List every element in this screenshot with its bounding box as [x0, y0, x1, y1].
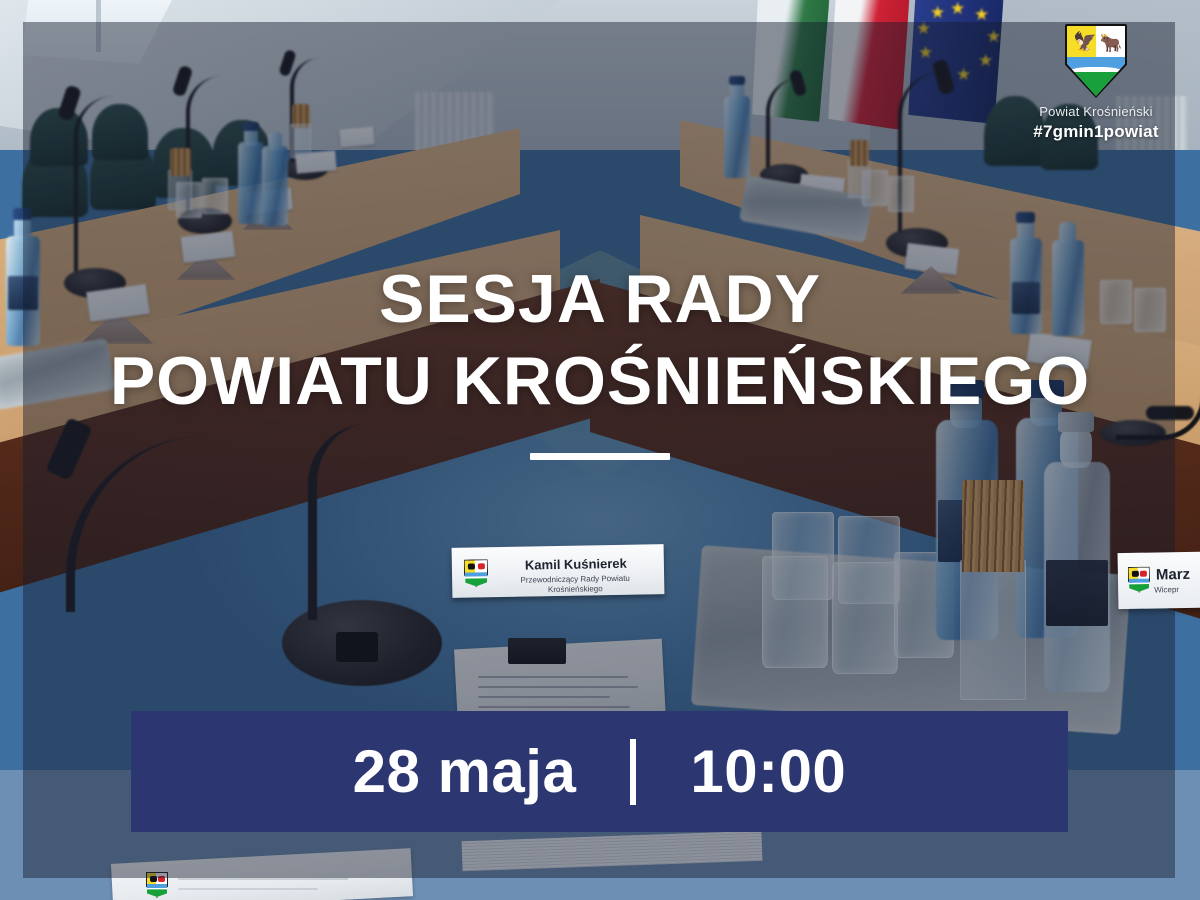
nameplate-person-name: Marz: [1156, 566, 1190, 584]
water-bottle: [238, 142, 264, 224]
drinking-glass: [832, 562, 898, 674]
document-text-line: [478, 686, 638, 688]
breadsticks-foreground: [962, 480, 1024, 572]
water-bottle: [724, 96, 750, 178]
eagle-icon: 🦅: [1073, 33, 1097, 52]
drinking-glass: [762, 556, 828, 668]
eu-star-icon: ★: [978, 52, 993, 69]
water-bottle-label: [8, 276, 38, 310]
bull-icon: 🐂: [1100, 34, 1122, 52]
water-bottle-cap: [13, 208, 32, 220]
document-stack: [462, 831, 763, 871]
logo-block: 🦅 🐂 Powiat Krośnieński #7gmin1powiat: [1030, 24, 1162, 142]
document-crest-icon: [146, 872, 168, 898]
breadstick-cup: [290, 124, 311, 158]
eu-star-icon: ★: [916, 20, 931, 37]
eu-star-icon: ★: [956, 66, 971, 83]
breadstick-cup: [168, 170, 192, 210]
water-bottle-cap: [1028, 380, 1064, 398]
event-date: 28 maja: [353, 741, 577, 803]
event-time: 10:00: [690, 741, 846, 803]
breadstick-cup-foreground: [960, 560, 1026, 700]
eu-star-icon: ★: [974, 6, 989, 23]
eu-star-icon: ★: [930, 4, 945, 21]
water-bottle-cap: [1016, 212, 1035, 223]
water-bottle-cap: [948, 380, 984, 398]
water-bottle-cap: [243, 122, 259, 131]
eu-star-icon: ★: [950, 0, 965, 17]
nameplate-person-role: Wicepr: [1154, 585, 1179, 594]
coat-of-arms-icon: 🦅 🐂: [1065, 24, 1127, 98]
breadsticks: [850, 140, 869, 166]
water-bottle-neck: [268, 132, 282, 150]
nameplate-crest-icon: [464, 559, 488, 587]
eu-star-icon: ★: [986, 28, 1001, 45]
water-bottle-neck: [1059, 222, 1076, 244]
water-bottle-label: [1046, 560, 1108, 626]
banner-separator: [630, 739, 636, 805]
nameplate-vice-marshal: Marz Wicepr: [1118, 551, 1200, 609]
water-bottle-neck: [1060, 428, 1092, 468]
eu-star-icon: ★: [918, 44, 933, 61]
water-bottle-neck: [1017, 220, 1034, 242]
poster-root: ★ ★ ★ ★ ★ ★ ★ ★ ★: [0, 0, 1200, 900]
window-mullion: [96, 0, 101, 52]
microphone-switch: [336, 632, 378, 662]
document-text-line: [178, 888, 318, 890]
water-bottle-label: [1012, 282, 1040, 314]
drinking-glass: [1100, 280, 1132, 324]
water-bottle: [262, 146, 288, 226]
drinking-glass: [888, 176, 914, 212]
nameplate-chairman: Kamil Kuśnierek Przewodniczący Rady Powi…: [452, 544, 665, 598]
nameplate-crest-icon: [1128, 567, 1150, 593]
water-bottle-cap: [1058, 412, 1094, 432]
drinking-glass: [202, 178, 228, 214]
nameplate-small: [339, 127, 374, 148]
logo-hashtag: #7gmin1powiat: [1030, 121, 1162, 142]
document-text-line: [178, 878, 348, 880]
nameplate-person-role: Przewodniczący Rady Powiatu Krośnieńskie…: [492, 573, 658, 596]
nameplate-person-name: Kamil Kuśnierek: [496, 555, 656, 573]
microphone-arm-foreground: [308, 424, 382, 620]
date-time-banner: 28 maja 10:00: [131, 711, 1068, 832]
water-bottle: [1052, 240, 1084, 336]
document-text-line: [478, 696, 610, 698]
logo-county-name: Powiat Krośnieński: [1030, 103, 1162, 121]
drinking-glass: [1134, 288, 1166, 332]
document-text-line: [478, 676, 628, 678]
breadsticks: [170, 148, 191, 176]
water-bottle-cap: [729, 76, 745, 85]
binder-clip-icon: [508, 638, 566, 664]
microphone-arm: [74, 96, 114, 272]
document-text-line: [478, 706, 630, 708]
